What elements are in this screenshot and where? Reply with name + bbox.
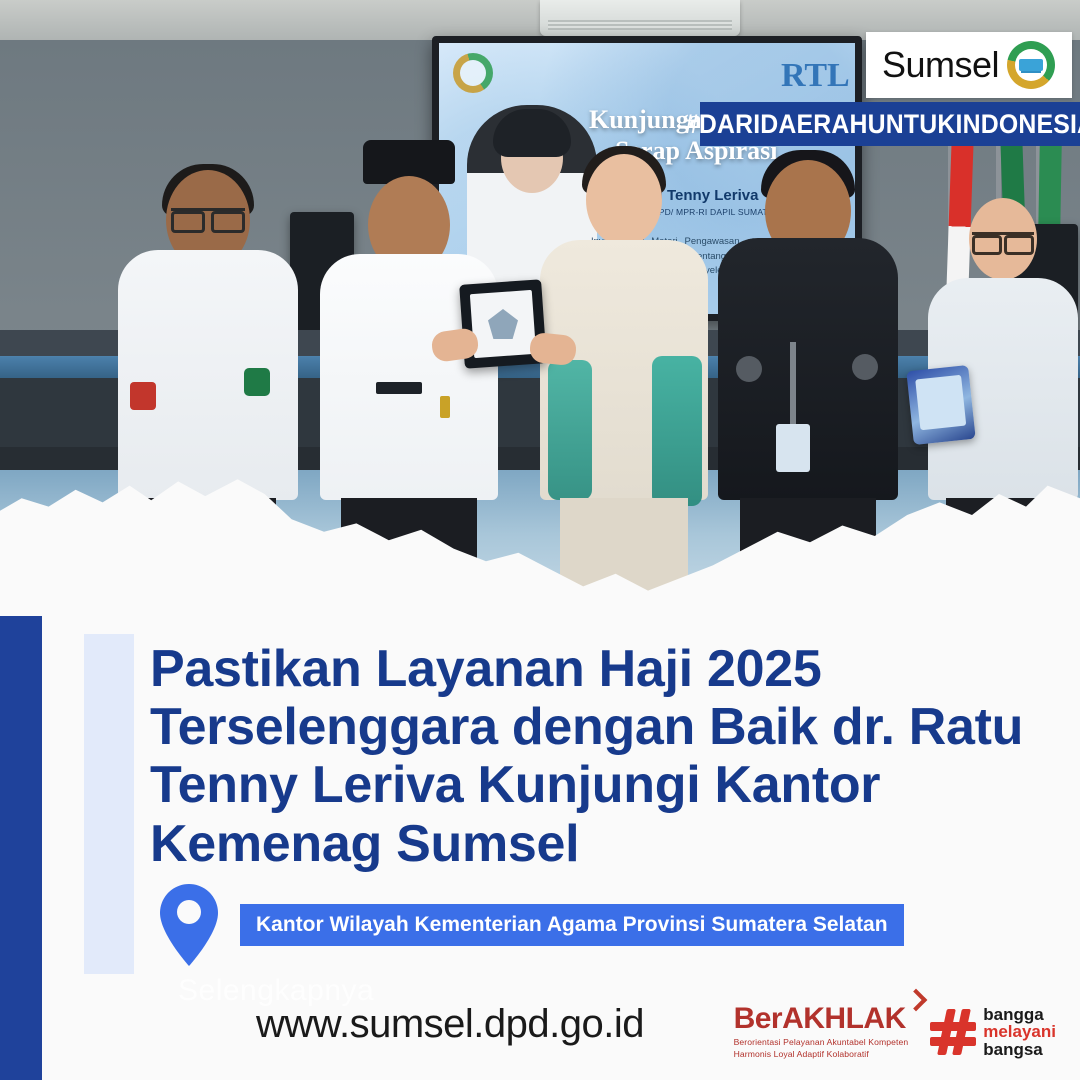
sumsel-brand-badge: Sumsel — [866, 32, 1072, 98]
location-banner: Kantor Wilayah Kementerian Agama Provins… — [240, 904, 904, 946]
scarf-right — [652, 356, 702, 506]
body — [718, 238, 898, 500]
kemenag-badge-icon — [244, 368, 270, 396]
map-pin-icon — [160, 884, 218, 966]
shoulder-patch-icon — [852, 354, 878, 380]
screen-dpd-logo-icon — [453, 53, 493, 93]
lapel-pin-icon — [440, 396, 450, 418]
hand-receiving — [529, 332, 578, 367]
accent-pale-bar — [84, 634, 134, 974]
berakhlak-wordmark: BerAKHLAK — [734, 1004, 906, 1034]
bangga-line1: bangga — [983, 1006, 1056, 1024]
sumsel-label: Sumsel — [882, 44, 999, 86]
nameplate — [376, 382, 422, 394]
footer-logos: BerAKHLAK Berorientasi Pelayanan Akuntab… — [734, 1004, 1056, 1060]
location-row: Kantor Wilayah Kementerian Agama Provins… — [160, 884, 1020, 966]
berakhlak-tagline-line2: Harmonis Loyal Adaptif Kolaboratif — [734, 1049, 869, 1059]
air-conditioner-icon — [540, 0, 740, 36]
hashtag-banner: #DARIDAERAHUNTUKINDONESIA — [700, 102, 1080, 146]
person-staff-right — [928, 180, 1078, 500]
person-guest-center — [540, 130, 708, 500]
head — [586, 154, 662, 246]
dpd-ri-emblem-icon — [1007, 41, 1055, 89]
garuda-badge-icon — [130, 382, 156, 410]
id-card — [776, 424, 810, 472]
hashtag-text: #DARIDAERAHUNTUKINDONESIA — [685, 109, 1080, 140]
bangga-line2: melayani — [983, 1023, 1056, 1041]
hashtag-icon — [930, 1009, 976, 1055]
lanyard — [790, 342, 796, 424]
bangga-melayani-bangsa-logo: bangga melayani bangsa — [930, 1006, 1056, 1059]
body — [118, 250, 298, 500]
arrow-icon — [905, 989, 928, 1012]
person-official-left — [118, 170, 298, 500]
scarf-left — [548, 360, 592, 500]
body — [540, 240, 708, 500]
glasses-icon — [171, 208, 245, 224]
shoulder-patch-icon — [736, 356, 762, 382]
left-blue-bar — [0, 616, 42, 1080]
bangga-line3: bangsa — [983, 1041, 1056, 1059]
berakhlak-logo: BerAKHLAK Berorientasi Pelayanan Akuntab… — [734, 1004, 909, 1060]
berakhlak-tagline: Berorientasi Pelayanan Akuntabel Kompete… — [734, 1037, 909, 1060]
bangga-wordmark: bangga melayani bangsa — [983, 1006, 1056, 1059]
page-title: Pastikan Layanan Haji 2025 Terselenggara… — [150, 640, 1030, 873]
person-staff-black-uniform — [718, 150, 898, 500]
glasses-icon — [972, 232, 1034, 246]
website-url[interactable]: www.sumsel.dpd.go.id — [256, 1002, 644, 1047]
souvenir-plaque — [906, 365, 975, 445]
poster-canvas: RTL Kunjungan Kerja Serap Aspirasi dr. R… — [0, 0, 1080, 1080]
screen-rtl-logo-icon: RTL — [781, 51, 841, 101]
berakhlak-tagline-line1: Berorientasi Pelayanan Akuntabel Kompete… — [734, 1037, 909, 1047]
book-icon — [1019, 59, 1043, 71]
